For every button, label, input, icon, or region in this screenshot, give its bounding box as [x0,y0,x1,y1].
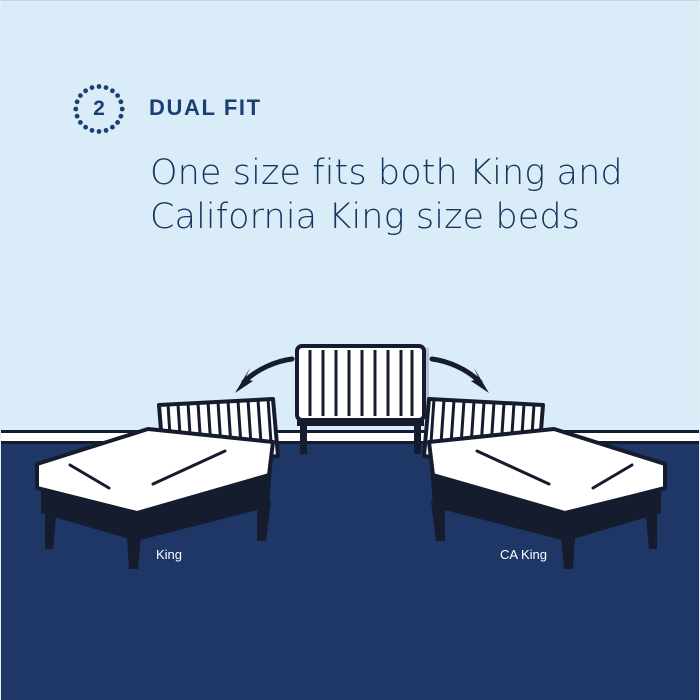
step-number: 2 [73,83,125,135]
curved-arrow-left [235,359,292,393]
bed-king [37,399,278,569]
page-title: One size fits both King and California K… [150,151,670,239]
section-eyebrow: DUAL FIT [149,95,262,121]
center-headboard [297,346,429,454]
curved-arrow-right [432,359,489,393]
bed-ca-king [424,399,665,569]
headline-line-2: California King size beds [150,195,670,239]
step-badge: 2 [73,83,125,135]
infographic-canvas: 2 DUAL FIT One size fits both King and C… [0,0,700,700]
bed-label-king: King [156,547,182,562]
headline-line-1: One size fits both King and [150,151,670,195]
bed-label-ca-king: CA King [500,547,547,562]
